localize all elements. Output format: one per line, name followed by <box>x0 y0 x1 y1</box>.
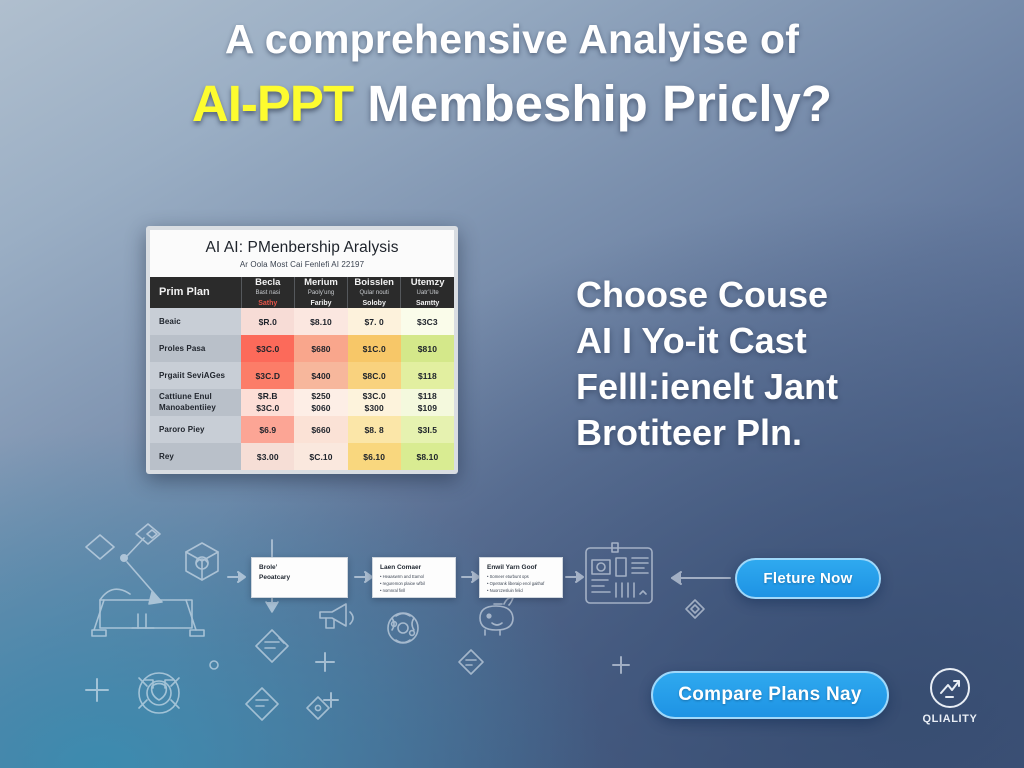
table-row: Paroro Piey$6.9$660$8. 8$3I.5 <box>150 416 454 443</box>
headline-block: A comprehensive Analyise of AI-PPT Membe… <box>0 14 1024 134</box>
table-row: Prgaiit SeviAGes$3C.D$400$8C.0$118 <box>150 362 454 389</box>
table-header-col-2: Merium Paoly’ung Fariby <box>294 277 347 308</box>
table-cell: $6.9 <box>241 416 294 443</box>
table-cell: $3C.D <box>241 362 294 389</box>
trend-arrow-icon <box>928 666 972 710</box>
table-header-col-3: Boisslen Qular nouti Soloby <box>348 277 401 308</box>
table-cell: $7. 0 <box>348 308 401 335</box>
table-cell: $3.00 <box>241 443 294 470</box>
table-cell: $3C.0 <box>241 335 294 362</box>
table-cell: $660 <box>294 416 347 443</box>
table-cell: $1C.0 <box>348 335 401 362</box>
table-row-label: Cattiune EnulManoabentiiey <box>150 389 241 416</box>
document-dashboard-icon <box>586 543 652 603</box>
flow-box-bullet: • Nuorczesluin felid <box>487 587 555 594</box>
table-cell: $R.0 <box>241 308 294 335</box>
table-header-col-4: Utemzy Uatr’Ute Samtty <box>401 277 454 308</box>
table-row: Proles Pasa$3C.0$680$1C.0$810 <box>150 335 454 362</box>
flow-box-bullet: • reguremon plaioe wfbil <box>380 580 448 587</box>
quality-badge-label: QLIALITY <box>917 713 983 725</box>
left-arrow-to-button <box>672 572 730 584</box>
gear-brain-icon <box>388 613 418 643</box>
table-header-col-1: Becla Bast nasi Sathy <box>241 277 294 308</box>
flow-box-2: Laen Comaer• Heaaswrm and Eamol• regurem… <box>372 557 456 598</box>
feature-now-button[interactable]: Fleture Now <box>735 558 881 599</box>
table-head: Prim Plan Becla Bast nasi Sathy Merium P… <box>150 277 454 308</box>
flow-box-3: Enwil Yarn Goof• Someer eturbunt ops• Op… <box>479 557 563 598</box>
table-subtitle: Ar Oola Most Cai Fenlefi AI 22197 <box>156 260 448 269</box>
right-copy-line-1: Choose Couse <box>576 272 948 318</box>
table-cell: $3I.5 <box>401 416 454 443</box>
diamond-outline-icon <box>307 697 329 719</box>
table-title: AI AI: PMenbership Aralysis <box>156 239 448 257</box>
headline-line-2-rest: Membeship Pricly? <box>353 75 832 132</box>
table-row-label: Prgaiit SeviAGes <box>150 362 241 389</box>
table-body: Beaic$R.0$8.10$7. 0$3C3Proles Pasa$3C.0$… <box>150 308 454 470</box>
flow-box-bullet: • nomnral finll <box>380 587 448 594</box>
pricing-table-card: AI AI: PMenbership Aralysis Ar Oola Most… <box>146 226 458 474</box>
table-cell: $118 <box>401 362 454 389</box>
table-cell: $3C.0$300 <box>348 389 401 416</box>
headline-line-2: AI-PPT Membeship Pricly? <box>0 73 1024 134</box>
table-cell: $680 <box>294 335 347 362</box>
small-circle-icon <box>210 661 218 669</box>
table-row-label: Rey <box>150 443 241 470</box>
diamond-node-icon <box>86 524 162 604</box>
right-copy-line-4: Brotiteer Pln. <box>576 410 948 456</box>
balance-scale-icon <box>92 589 204 636</box>
flow-box-title: Laen Comaer <box>380 563 448 573</box>
hub-gear-icon <box>186 543 218 580</box>
flow-box-1: Brole’Peoatcary <box>251 557 348 598</box>
pricing-table: Prim Plan Becla Bast nasi Sathy Merium P… <box>150 277 454 470</box>
right-copy-line-3: Felll:ienelt Jant <box>576 364 948 410</box>
table-row-label: Beaic <box>150 308 241 335</box>
small-diamond-icon <box>686 600 704 618</box>
table-cell: $6.10 <box>348 443 401 470</box>
plus-sign-icon <box>86 653 629 707</box>
right-copy-line-2: AI I Yo-it Cast <box>576 318 948 364</box>
table-header-row: Prim Plan Becla Bast nasi Sathy Merium P… <box>150 277 454 308</box>
headline-line-1: A comprehensive Analyise of <box>0 14 1024 65</box>
flow-box-bullet: • Someer eturbunt ops <box>487 573 555 580</box>
table-cell: $8.10 <box>401 443 454 470</box>
table-row: Beaic$R.0$8.10$7. 0$3C3 <box>150 308 454 335</box>
flow-box-bullet: • Heaaswrm and Eamol <box>380 573 448 580</box>
table-cell: $R.B$3C.0 <box>241 389 294 416</box>
table-cell: $810 <box>401 335 454 362</box>
table-cell: $8. 8 <box>348 416 401 443</box>
piggy-bank-icon <box>480 598 513 635</box>
headline-accent-ai-ppt: AI-PPT <box>192 75 353 132</box>
flow-box-title: Brole’ <box>259 563 340 573</box>
flow-box-title: Enwil Yarn Goof <box>487 563 555 573</box>
table-cell: $118$109 <box>401 389 454 416</box>
table-cell: $400 <box>294 362 347 389</box>
shield-target-icon <box>139 673 179 713</box>
table-row-label: Proles Pasa <box>150 335 241 362</box>
table-row: Cattiune EnulManoabentiiey$R.B$3C.0$250$… <box>150 389 454 416</box>
table-cell: $8.10 <box>294 308 347 335</box>
table-cell: $8C.0 <box>348 362 401 389</box>
table-cell: $3C3 <box>401 308 454 335</box>
right-headline-copy: Choose CouseAI I Yo-it CastFelll:ienelt … <box>576 272 948 456</box>
flow-box-title: Peoatcary <box>259 573 340 583</box>
quality-badge: QLIALITY <box>917 666 983 725</box>
table-cell: $250$060 <box>294 389 347 416</box>
table-row-label: Paroro Piey <box>150 416 241 443</box>
table-title-box: AI AI: PMenbership Aralysis Ar Oola Most… <box>150 230 454 277</box>
table-row: Rey$3.00$C.10$6.10$8.10 <box>150 443 454 470</box>
table-header-plan: Prim Plan <box>150 277 241 308</box>
compare-plans-button[interactable]: Compare Plans Nay <box>651 671 889 719</box>
megaphone-icon <box>320 604 353 628</box>
table-cell: $C.10 <box>294 443 347 470</box>
flow-box-bullet: • Opetrank liberaip enol gaithaf <box>487 580 555 587</box>
